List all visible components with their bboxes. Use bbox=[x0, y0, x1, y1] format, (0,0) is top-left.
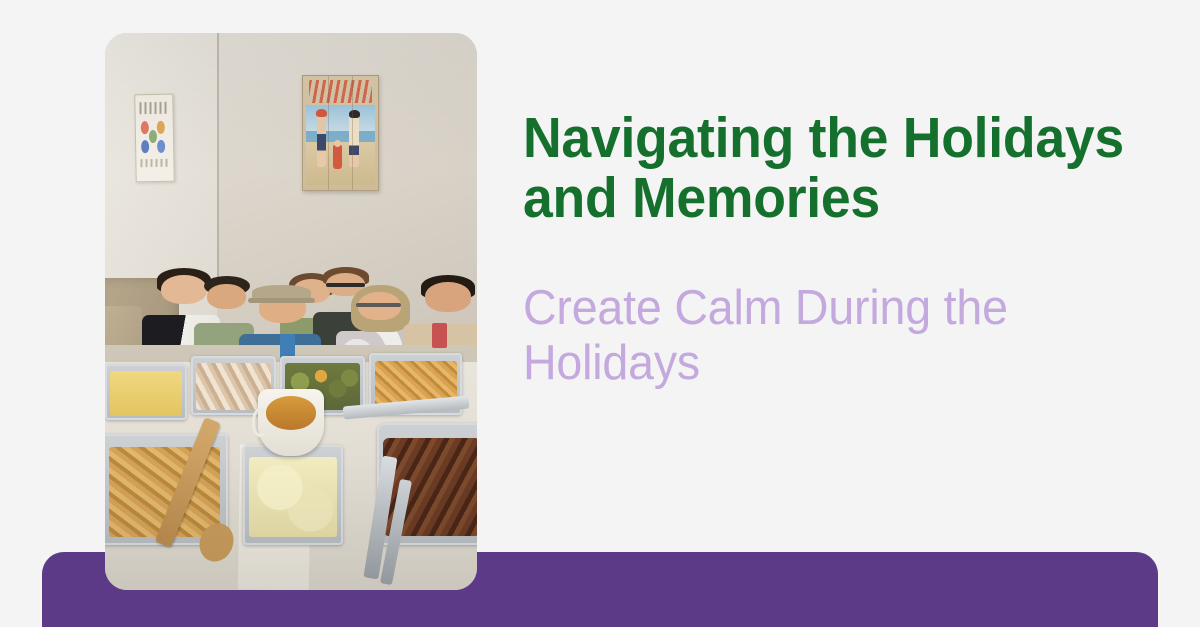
hero-photo bbox=[105, 33, 477, 590]
page-subtitle: Create Calm During the Holidays bbox=[523, 281, 1141, 392]
text-block: Navigating the Holidays and Memories Cre… bbox=[523, 108, 1173, 392]
page-title: Navigating the Holidays and Memories bbox=[523, 108, 1134, 229]
photo-content bbox=[105, 33, 477, 590]
slide-canvas: Navigating the Holidays and Memories Cre… bbox=[0, 0, 1200, 627]
photo-vignette bbox=[105, 33, 477, 590]
